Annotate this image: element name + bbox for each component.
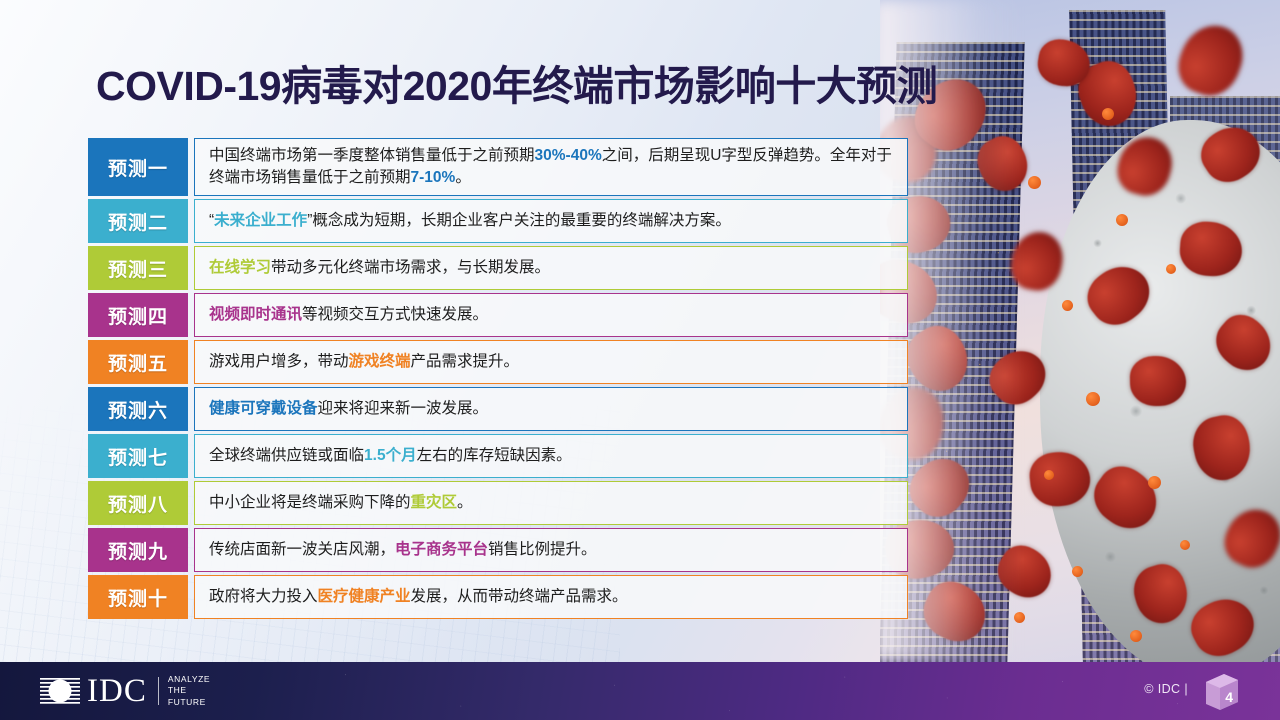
- prediction-label: 预测一: [88, 138, 188, 196]
- prediction-label: 预测四: [88, 293, 188, 337]
- prediction-text: 视频即时通讯等视频交互方式快速发展。: [194, 293, 908, 337]
- page-title: COVID-19病毒对2020年终端市场影响十大预测: [96, 52, 937, 112]
- prediction-text: “未来企业工作”概念成为短期，长期企业客户关注的最重要的终端解决方案。: [194, 199, 908, 243]
- body-text: 销售比例提升。: [488, 541, 597, 558]
- body-text: 中小企业将是终端采购下降的: [209, 494, 411, 511]
- prediction-label: 预测六: [88, 387, 188, 431]
- highlight-text: 在线学习: [209, 259, 271, 276]
- highlight-text: 医疗健康产业: [318, 588, 411, 605]
- highlight-text: 30%-40%: [535, 147, 602, 164]
- prediction-row: 预测八中小企业将是终端采购下降的重灾区。: [88, 481, 908, 525]
- slide-canvas: COVID-19病毒对2020年终端市场影响十大预测 预测一中国终端市场第一季度…: [0, 0, 1280, 720]
- prediction-row: 预测一中国终端市场第一季度整体销售量低于之前预期30%-40%之间，后期呈现U字…: [88, 138, 908, 196]
- body-text: 传统店面新一波关店风潮，: [209, 541, 395, 558]
- prediction-label: 预测九: [88, 528, 188, 572]
- prediction-list: 预测一中国终端市场第一季度整体销售量低于之前预期30%-40%之间，后期呈现U字…: [88, 138, 908, 622]
- copyright-text: © IDC |: [1144, 682, 1188, 696]
- prediction-label: 预测七: [88, 434, 188, 478]
- prediction-text: 全球终端供应链或面临1.5个月左右的库存短缺因素。: [194, 434, 908, 478]
- idc-wordmark: IDC: [87, 675, 147, 708]
- highlight-text: 1.5个月: [364, 447, 417, 464]
- body-text: 中国终端市场第一季度整体销售量低于之前预期: [209, 147, 535, 164]
- body-text: 左右的库存短缺因素。: [417, 447, 572, 464]
- body-text: 等视频交互方式快速发展。: [302, 306, 488, 323]
- prediction-text: 中国终端市场第一季度整体销售量低于之前预期30%-40%之间，后期呈现U字型反弹…: [194, 138, 908, 196]
- prediction-text: 政府将大力投入医疗健康产业发展，从而带动终端产品需求。: [194, 575, 908, 619]
- prediction-text: 健康可穿戴设备迎来将迎来新一波发展。: [194, 387, 908, 431]
- body-text: 游戏用户增多，带动: [209, 353, 349, 370]
- body-text: 发展，从而带动终端产品需求。: [411, 588, 628, 605]
- idc-globe-icon: [40, 674, 80, 708]
- body-text: 。: [455, 169, 471, 186]
- prediction-row: 预测六健康可穿戴设备迎来将迎来新一波发展。: [88, 387, 908, 431]
- body-text: 产品需求提升。: [411, 353, 520, 370]
- highlight-text: 7-10%: [411, 169, 456, 186]
- prediction-label: 预测三: [88, 246, 188, 290]
- highlight-text: 游戏终端: [349, 353, 411, 370]
- idc-tagline: ANALYZETHEFUTURE: [168, 674, 210, 708]
- prediction-row: 预测九传统店面新一波关店风潮，电子商务平台销售比例提升。: [88, 528, 908, 572]
- body-text: 全球终端供应链或面临: [209, 447, 364, 464]
- body-text: 迎来将迎来新一波发展。: [318, 400, 489, 417]
- page-number: 4: [1225, 689, 1233, 705]
- page-cube-icon: [1198, 670, 1242, 714]
- prediction-label: 预测五: [88, 340, 188, 384]
- body-text: 政府将大力投入: [209, 588, 318, 605]
- body-text: 。: [457, 494, 473, 511]
- prediction-row: 预测四视频即时通讯等视频交互方式快速发展。: [88, 293, 908, 337]
- prediction-label: 预测八: [88, 481, 188, 525]
- prediction-row: 预测五游戏用户增多，带动游戏终端产品需求提升。: [88, 340, 908, 384]
- idc-logo: IDC ANALYZETHEFUTURE: [40, 673, 210, 709]
- logo-divider: [158, 677, 159, 705]
- highlight-text: 视频即时通讯: [209, 306, 302, 323]
- prediction-row: 预测七全球终端供应链或面临1.5个月左右的库存短缺因素。: [88, 434, 908, 478]
- prediction-text: 游戏用户增多，带动游戏终端产品需求提升。: [194, 340, 908, 384]
- body-text: 带动多元化终端市场需求，与长期发展。: [271, 259, 550, 276]
- highlight-text: 健康可穿戴设备: [209, 400, 318, 417]
- prediction-text: 传统店面新一波关店风潮，电子商务平台销售比例提升。: [194, 528, 908, 572]
- highlight-text: 未来企业工作: [214, 212, 307, 229]
- prediction-row: 预测十政府将大力投入医疗健康产业发展，从而带动终端产品需求。: [88, 575, 908, 619]
- prediction-row: 预测三在线学习带动多元化终端市场需求，与长期发展。: [88, 246, 908, 290]
- highlight-text: 电子商务平台: [395, 541, 488, 558]
- prediction-text: 中小企业将是终端采购下降的重灾区。: [194, 481, 908, 525]
- body-text: ”概念成为短期，长期企业客户关注的最重要的终端解决方案。: [307, 212, 731, 229]
- prediction-text: 在线学习带动多元化终端市场需求，与长期发展。: [194, 246, 908, 290]
- prediction-row: 预测二“未来企业工作”概念成为短期，长期企业客户关注的最重要的终端解决方案。: [88, 199, 908, 243]
- covid-city-photo: [880, 0, 1280, 662]
- prediction-label: 预测二: [88, 199, 188, 243]
- slide-footer: IDC ANALYZETHEFUTURE © IDC | 4: [0, 662, 1280, 720]
- prediction-label: 预测十: [88, 575, 188, 619]
- highlight-text: 重灾区: [411, 494, 458, 511]
